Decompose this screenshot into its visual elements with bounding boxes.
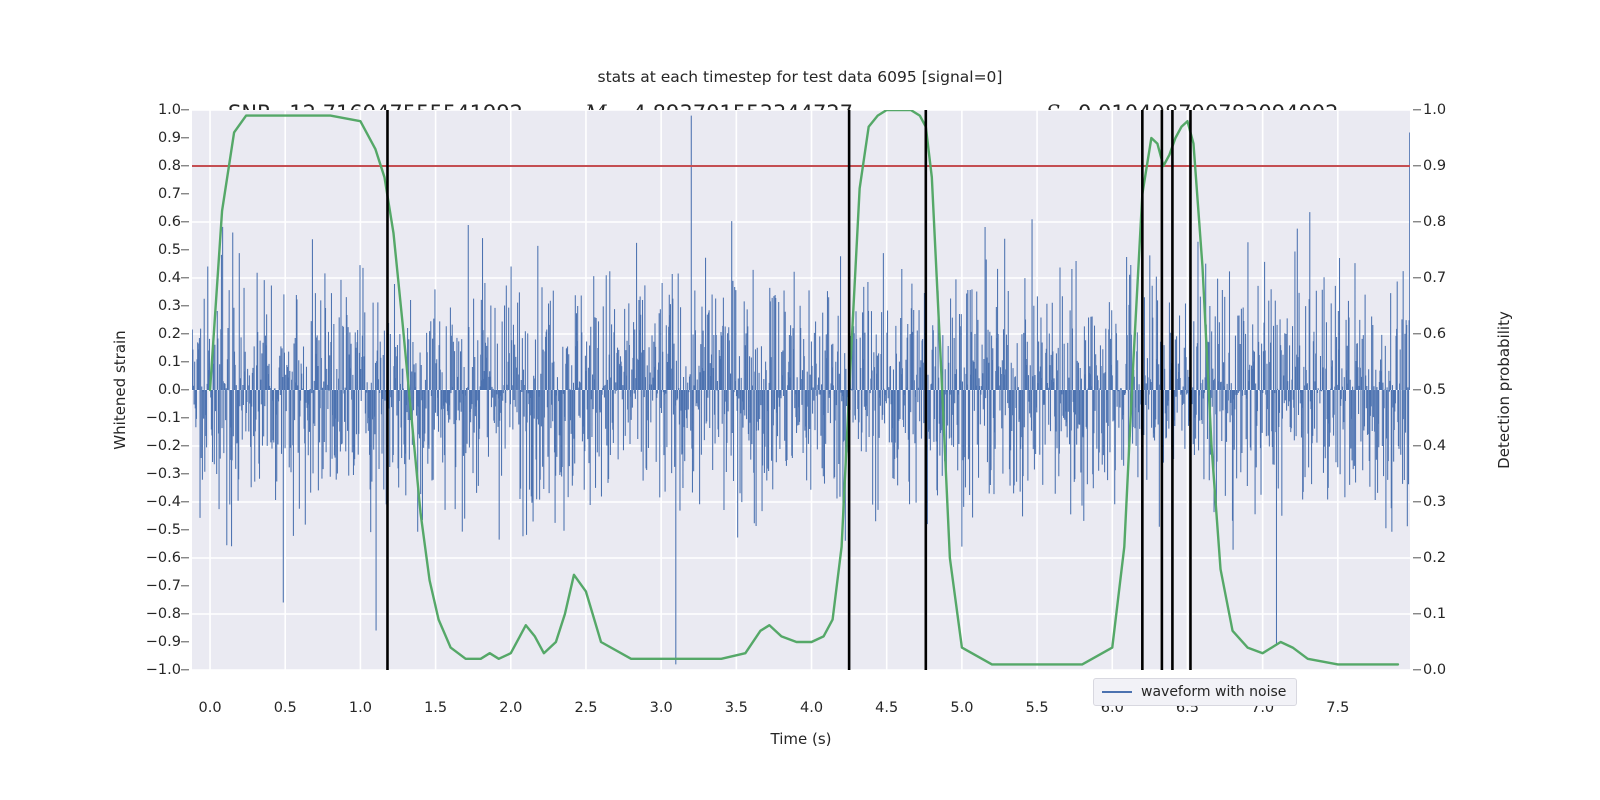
y-tick-label-left: −0.4 (146, 494, 181, 510)
y-tick-mark-left (181, 249, 189, 250)
y-tick-label-left: −0.3 (146, 466, 181, 482)
x-tick-label: 1.0 (349, 700, 372, 716)
y-tick-mark-right (1413, 333, 1421, 334)
y-tick-label-left: −0.2 (146, 438, 181, 454)
x-tick-label: 5.5 (1026, 700, 1049, 716)
y-tick-label-right: 1.0 (1423, 102, 1446, 118)
y-tick-label-right: 0.9 (1423, 158, 1446, 174)
y-tick-label-left: 0.4 (158, 270, 181, 286)
y-tick-label-left: −0.6 (146, 550, 181, 566)
y-tick-label-left: 0.0 (158, 382, 181, 398)
x-tick-label: 0.0 (199, 700, 222, 716)
y-tick-label-left: −0.5 (146, 522, 181, 538)
x-tick-label: 0.5 (274, 700, 297, 716)
legend-label-waveform: waveform with noise (1141, 684, 1286, 700)
x-tick-label: 7.5 (1326, 700, 1349, 716)
x-tick-label: 2.5 (574, 700, 597, 716)
y-tick-label-right: 0.3 (1423, 494, 1446, 510)
x-tick-label: 4.0 (800, 700, 823, 716)
y-tick-mark-left (181, 585, 189, 586)
y-tick-label-left: −0.7 (146, 578, 181, 594)
y-tick-label-left: −1.0 (146, 662, 181, 678)
y-tick-mark-right (1413, 165, 1421, 166)
y-tick-mark-left (181, 389, 189, 390)
y-tick-label-left: −0.1 (146, 410, 181, 426)
y-tick-label-right: 0.0 (1423, 662, 1446, 678)
y-tick-mark-right (1413, 669, 1421, 670)
y-tick-mark-right (1413, 613, 1421, 614)
figure-canvas: stats at each timestep for test data 609… (0, 0, 1600, 800)
y-tick-label-left: −0.9 (146, 634, 181, 650)
y-tick-label-left: 0.1 (158, 354, 181, 370)
plot-svg (192, 110, 1410, 670)
x-tick-label: 3.5 (725, 700, 748, 716)
y-tick-label-right: 0.4 (1423, 438, 1446, 454)
y-axis-label-left: Whitened strain (111, 330, 129, 449)
y-tick-label-right: 0.1 (1423, 606, 1446, 622)
y-tick-label-left: 0.7 (158, 186, 181, 202)
y-tick-mark-right (1413, 277, 1421, 278)
y-tick-mark-right (1413, 501, 1421, 502)
y-tick-label-left: 0.9 (158, 130, 181, 146)
x-tick-label: 3.0 (650, 700, 673, 716)
y-tick-mark-left (181, 277, 189, 278)
y-tick-mark-left (181, 137, 189, 138)
legend-swatch-waveform (1102, 691, 1132, 693)
y-tick-label-left: 0.8 (158, 158, 181, 174)
x-tick-label: 1.5 (424, 700, 447, 716)
y-tick-mark-right (1413, 445, 1421, 446)
legend: waveform with noise (1093, 678, 1297, 706)
y-tick-mark-left (181, 529, 189, 530)
plot-axes (192, 110, 1410, 670)
y-tick-label-right: 0.7 (1423, 270, 1446, 286)
y-tick-mark-left (181, 305, 189, 306)
figure-title: stats at each timestep for test data 609… (0, 68, 1600, 86)
y-tick-mark-left (181, 361, 189, 362)
y-tick-mark-left (181, 557, 189, 558)
y-tick-label-right: 0.5 (1423, 382, 1446, 398)
y-tick-mark-left (181, 669, 189, 670)
y-axis-label-right: Detection probability (1495, 311, 1513, 469)
y-tick-label-left: 0.6 (158, 214, 181, 230)
x-tick-label: 4.5 (875, 700, 898, 716)
x-axis-label: Time (s) (192, 730, 1410, 748)
y-tick-label-right: 0.6 (1423, 326, 1446, 342)
y-tick-mark-left (181, 445, 189, 446)
y-tick-mark-right (1413, 221, 1421, 222)
y-tick-label-left: 1.0 (158, 102, 181, 118)
y-tick-mark-left (181, 473, 189, 474)
y-tick-mark-left (181, 613, 189, 614)
y-tick-label-left: 0.5 (158, 242, 181, 258)
y-tick-mark-right (1413, 557, 1421, 558)
y-tick-mark-right (1413, 389, 1421, 390)
y-tick-label-left: 0.3 (158, 298, 181, 314)
y-tick-label-right: 0.2 (1423, 550, 1446, 566)
y-tick-label-left: 0.2 (158, 326, 181, 342)
y-tick-mark-left (181, 333, 189, 334)
y-tick-mark-left (181, 193, 189, 194)
y-tick-mark-left (181, 641, 189, 642)
y-tick-mark-left (181, 165, 189, 166)
y-tick-mark-left (181, 501, 189, 502)
y-tick-label-right: 0.8 (1423, 214, 1446, 230)
y-tick-mark-left (181, 221, 189, 222)
y-tick-label-left: −0.8 (146, 606, 181, 622)
x-tick-label: 2.0 (499, 700, 522, 716)
y-tick-mark-left (181, 109, 189, 110)
y-tick-mark-right (1413, 109, 1421, 110)
x-tick-label: 5.0 (950, 700, 973, 716)
y-tick-mark-left (181, 417, 189, 418)
